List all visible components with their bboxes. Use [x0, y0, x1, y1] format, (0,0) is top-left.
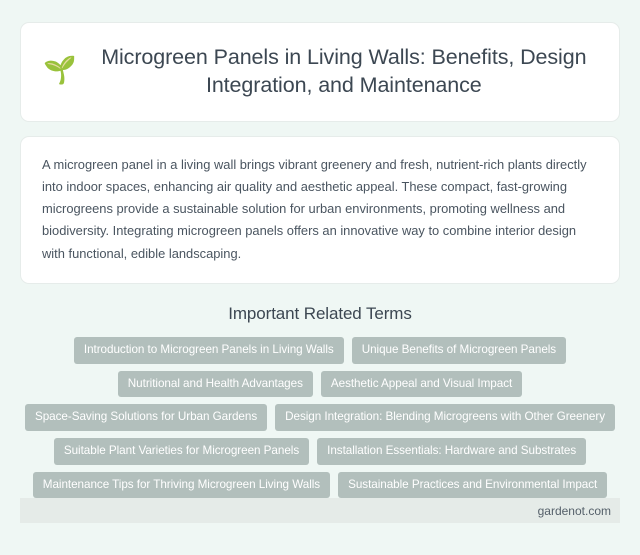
related-term-tag[interactable]: Suitable Plant Varieties for Microgreen …	[54, 438, 309, 465]
related-term-tag[interactable]: Introduction to Microgreen Panels in Liv…	[74, 337, 344, 364]
page-root: 🌱 Microgreen Panels in Living Walls: Ben…	[0, 0, 640, 555]
title-card: 🌱 Microgreen Panels in Living Walls: Ben…	[20, 22, 620, 122]
description-card: A microgreen panel in a living wall brin…	[20, 136, 620, 284]
related-term-tag[interactable]: Aesthetic Appeal and Visual Impact	[321, 371, 522, 398]
related-term-tag[interactable]: Installation Essentials: Hardware and Su…	[317, 438, 586, 465]
seedling-icon: 🌱	[43, 57, 77, 84]
related-term-tag[interactable]: Design Integration: Blending Microgreens…	[275, 404, 615, 431]
related-terms-list: Introduction to Microgreen Panels in Liv…	[20, 337, 620, 499]
description-text: A microgreen panel in a living wall brin…	[42, 154, 599, 265]
related-term-tag[interactable]: Space-Saving Solutions for Urban Gardens	[25, 404, 267, 431]
page-title: Microgreen Panels in Living Walls: Benef…	[91, 43, 597, 100]
related-term-tag[interactable]: Sustainable Practices and Environmental …	[338, 472, 607, 499]
related-terms-heading: Important Related Terms	[20, 304, 620, 324]
footer-site-name: gardenot.com	[538, 504, 611, 518]
footer-bar: gardenot.com	[20, 498, 620, 523]
related-term-tag[interactable]: Maintenance Tips for Thriving Microgreen…	[33, 472, 330, 499]
related-term-tag[interactable]: Unique Benefits of Microgreen Panels	[352, 337, 566, 364]
related-term-tag[interactable]: Nutritional and Health Advantages	[118, 371, 313, 398]
